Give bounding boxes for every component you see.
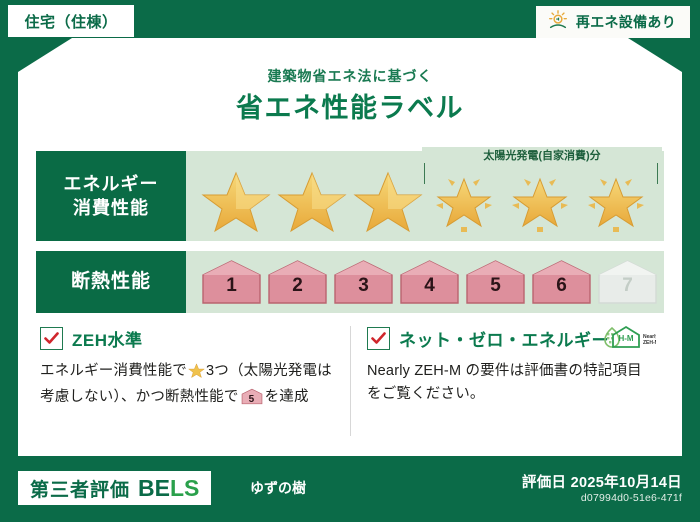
house-level-icon: 4 bbox=[398, 259, 461, 305]
star-icon bbox=[276, 165, 348, 233]
house-level-number: 7 bbox=[596, 275, 659, 297]
insulation-performance-row: 断熱性能 1 2 3 bbox=[36, 251, 664, 313]
svg-text:H-M: H-M bbox=[618, 334, 633, 343]
house-level-number: 5 bbox=[464, 275, 527, 297]
house-level-icon: 1 bbox=[200, 259, 263, 305]
star-icon-solar bbox=[428, 165, 500, 233]
house-level-number: 6 bbox=[530, 275, 593, 297]
energy-performance-row: エネルギー 消費性能 太陽光発電(自家消費)分 bbox=[36, 151, 664, 241]
bels-logo: BELS bbox=[138, 475, 199, 502]
info-section: ZEH水準 エネルギー消費性能で3つ（太陽光発電は考慮しない）、かつ断熱性能で5… bbox=[40, 326, 660, 436]
nearly-zeh-m-logo: H-M Nearly ZEH-M bbox=[598, 322, 656, 357]
inline-star-icon bbox=[188, 362, 205, 386]
insulation-label: 断熱性能 bbox=[71, 269, 151, 295]
third-party-eval-label: 第三者評価 bbox=[30, 475, 130, 502]
house-level-number: 1 bbox=[200, 275, 263, 297]
bels-logo-part1: BE bbox=[138, 475, 170, 501]
label-title: 省エネ性能ラベル bbox=[18, 86, 682, 125]
house-level-number: 3 bbox=[332, 275, 395, 297]
star-icon-solar bbox=[580, 165, 652, 233]
energy-label-line1: エネルギー bbox=[64, 172, 159, 196]
star-icon bbox=[200, 165, 272, 233]
zeh-text-part1: エネルギー消費性能で bbox=[40, 363, 187, 379]
star-rating bbox=[186, 165, 652, 233]
inline-house-icon: 5 bbox=[241, 388, 263, 405]
house-level-icon: 3 bbox=[332, 259, 395, 305]
insulation-performance-panel: 1 2 3 4 5 bbox=[186, 251, 664, 313]
logo-caption-2: ZEH-M bbox=[643, 340, 656, 346]
label-footer: 第三者評価 BELS ゆずの樹 評価日 2025年10月14日 d07994d0… bbox=[0, 462, 700, 522]
house-level-icon: 6 bbox=[530, 259, 593, 305]
net-zero-energy-title: ネット・ゼロ・エネルギー bbox=[399, 326, 609, 351]
house-level-number: 2 bbox=[266, 275, 329, 297]
energy-performance-label-block: エネルギー 消費性能 bbox=[36, 151, 186, 241]
label-subtitle: 建築物省エネ法に基づく bbox=[18, 66, 682, 86]
net-zero-energy-text: Nearly ZEH-M の要件は評価書の特記項目をご覧ください。 bbox=[367, 360, 646, 407]
house-level-number: 4 bbox=[398, 275, 461, 297]
net-zero-energy-block: ネット・ゼロ・エネルギー H-M Nearly bbox=[350, 326, 660, 436]
zeh-standard-heading: ZEH水準 bbox=[40, 326, 336, 351]
zeh-standard-title: ZEH水準 bbox=[72, 326, 143, 351]
building-type-tag-label: 住宅（住棟） bbox=[24, 11, 117, 32]
bels-logo-part2: LS bbox=[170, 475, 199, 501]
building-type-tag: 住宅（住棟） bbox=[8, 5, 134, 37]
document-id: d07994d0-51e6-471f bbox=[581, 492, 682, 504]
star-icon bbox=[352, 165, 424, 233]
insulation-level-scale: 1 2 3 4 5 bbox=[186, 259, 659, 305]
zeh-standard-block: ZEH水準 エネルギー消費性能で3つ（太陽光発電は考慮しない）、かつ断熱性能で5… bbox=[40, 326, 350, 436]
checkmark-icon bbox=[367, 327, 390, 350]
solar-sun-icon bbox=[547, 9, 569, 36]
evaluation-date-label: 評価日 bbox=[522, 475, 566, 491]
checkmark-icon bbox=[40, 327, 63, 350]
zeh-text-part3: を達成 bbox=[265, 389, 309, 405]
star-icon-solar bbox=[504, 165, 576, 233]
renewable-energy-badge-label: 再エネ設備あり bbox=[576, 12, 676, 32]
solar-caption: 太陽光発電(自家消費)分 bbox=[422, 147, 662, 163]
house-level-icon: 2 bbox=[266, 259, 329, 305]
energy-performance-panel: 太陽光発電(自家消費)分 bbox=[186, 151, 664, 241]
energy-label-line2: 消費性能 bbox=[73, 196, 149, 220]
energy-performance-label: 住宅（住棟） 再エネ設備あり 建築物省エネ法に基づく 省エネ性能ラベル bbox=[0, 0, 700, 522]
renewable-energy-badge: 再エネ設備あり bbox=[536, 6, 690, 38]
zeh-standard-text: エネルギー消費性能で3つ（太陽光発電は考慮しない）、かつ断熱性能で5を達成 bbox=[40, 360, 336, 410]
bels-certification-box: 第三者評価 BELS bbox=[18, 471, 211, 505]
house-level-icon: 5 bbox=[464, 259, 527, 305]
evaluation-date-value: 2025年10月14日 bbox=[571, 475, 682, 491]
house-level-icon-inactive: 7 bbox=[596, 259, 659, 305]
label-card: 建築物省エネ法に基づく 省エネ性能ラベル エネルギー 消費性能 太陽光発電(自家… bbox=[18, 38, 682, 456]
net-zero-energy-heading: ネット・ゼロ・エネルギー H-M Nearly bbox=[367, 326, 646, 351]
insulation-performance-label-block: 断熱性能 bbox=[36, 251, 186, 313]
inline-house-number: 5 bbox=[241, 392, 263, 408]
owner-name: ゆずの樹 bbox=[250, 478, 306, 498]
evaluation-date: 評価日 2025年10月14日 bbox=[522, 471, 682, 492]
